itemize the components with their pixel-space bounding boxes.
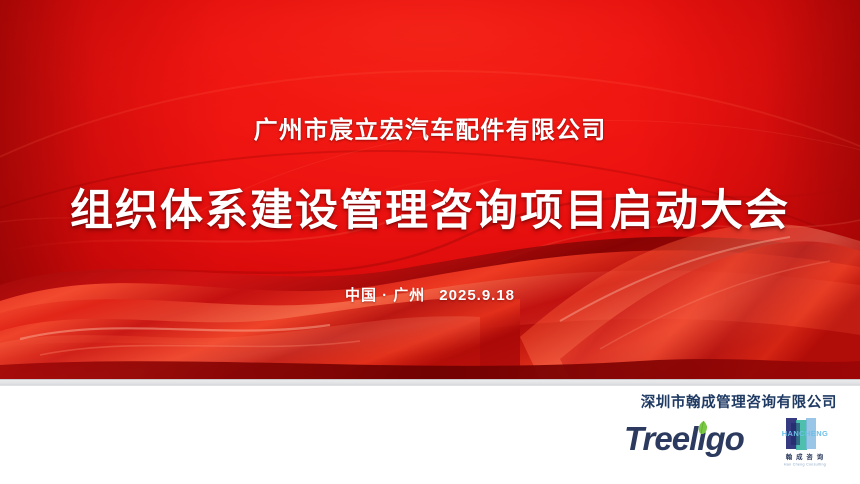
- hancheng-logo: HANCHENG 翰 成 咨 询 Han Cheng Consulting: [772, 418, 838, 468]
- page-title: 组织体系建设管理咨询项目启动大会: [0, 176, 860, 238]
- hancheng-chinese-text: 翰 成 咨 询: [786, 452, 825, 461]
- slide-footer: 深圳市翰成管理咨询有限公司 Treeligo: [0, 386, 860, 484]
- event-location-date: 中国 · 广州2025.9.18: [0, 284, 860, 305]
- event-location: 中国 · 广州: [345, 287, 425, 304]
- presentation-slide: 广州市宸立宏汽车配件有限公司 组织体系建设管理咨询项目启动大会 中国 · 广州2…: [0, 0, 860, 484]
- hancheng-latin-text: HANCHENG: [782, 429, 829, 438]
- footer-logo-row: Treeligo: [624, 418, 838, 468]
- treeligo-wordmark-glyphs: Treeligo: [624, 420, 745, 457]
- hancheng-pinyin-text: Han Cheng Consulting: [784, 463, 826, 467]
- event-date: 2025.9.18: [439, 287, 515, 304]
- svg-text:Treeligo: Treeligo: [624, 420, 745, 457]
- consultancy-company-name: 深圳市翰成管理咨询有限公司: [641, 391, 837, 412]
- client-company-subtitle: 广州市宸立宏汽车配件有限公司: [0, 110, 860, 145]
- treeligo-logo: Treeligo: [624, 418, 752, 466]
- hero-red-banner: 广州市宸立宏汽车配件有限公司 组织体系建设管理咨询项目启动大会 中国 · 广州2…: [0, 0, 860, 379]
